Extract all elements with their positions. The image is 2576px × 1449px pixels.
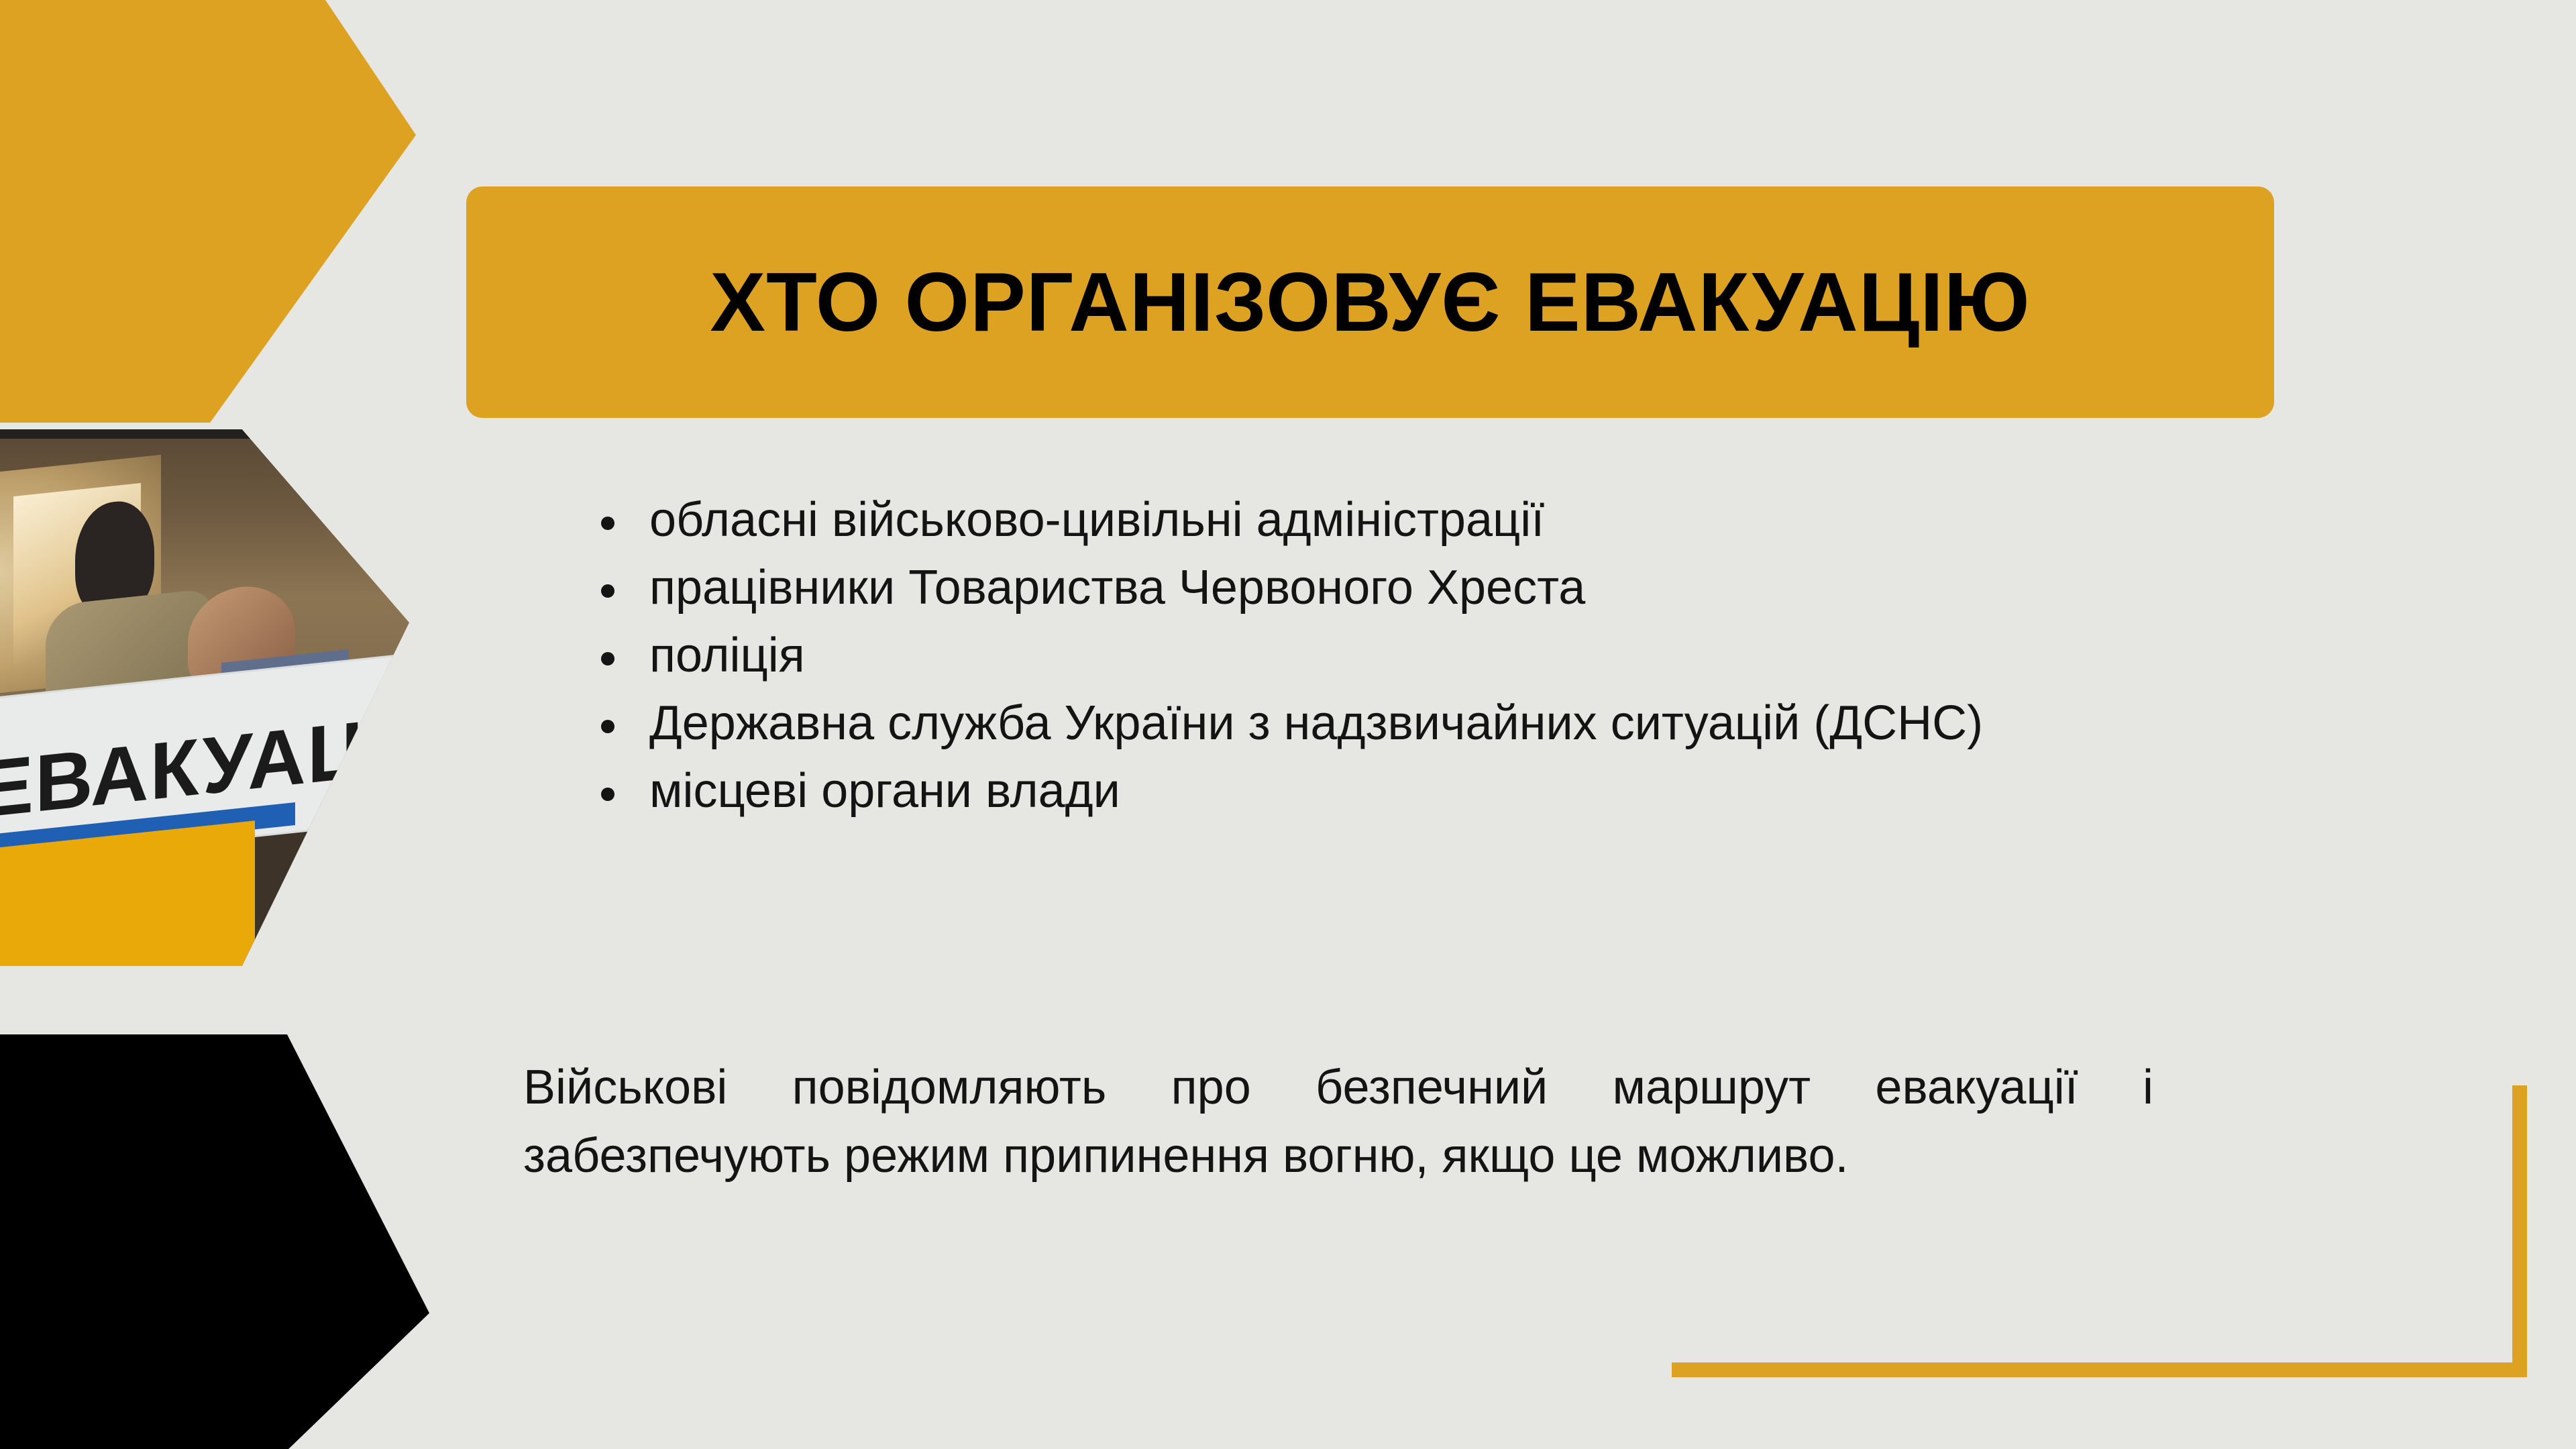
title-banner: ХТО ОРГАНІЗОВУЄ ЕВАКУАЦІЮ [466,186,2274,418]
list-item: поліція [590,624,2194,688]
slide: ВОСТОК SOS ЕВАКУАЦ ХТО ОРГАНІЗОВУЄ ЕВАКУ… [0,0,2576,1449]
list-item: обласні військово-цивільні адміністрації [590,488,2194,552]
corner-bracket-horizontal [1672,1362,2527,1377]
decorative-hexagon-yellow [0,0,416,423]
photo-backdrop: ВОСТОК SOS ЕВАКУАЦ [0,429,409,966]
evacuation-bus-photo: ВОСТОК SOS ЕВАКУАЦ [0,429,409,966]
summary-paragraph: Військові повідомляють про безпечний мар… [523,1053,2153,1190]
organizers-list: обласні військово-цивільні адміністрації… [590,488,2194,827]
list-item: місцеві органи влади [590,759,2194,823]
corner-bracket-vertical [2512,1085,2527,1377]
list-item: Державна служба України з надзвичайних с… [590,692,2194,755]
decorative-hexagon-black [0,1034,429,1449]
page-title: ХТО ОРГАНІЗОВУЄ ЕВАКУАЦІЮ [710,255,2030,350]
list-item: працівники Товариства Червоного Хреста [590,556,2194,620]
